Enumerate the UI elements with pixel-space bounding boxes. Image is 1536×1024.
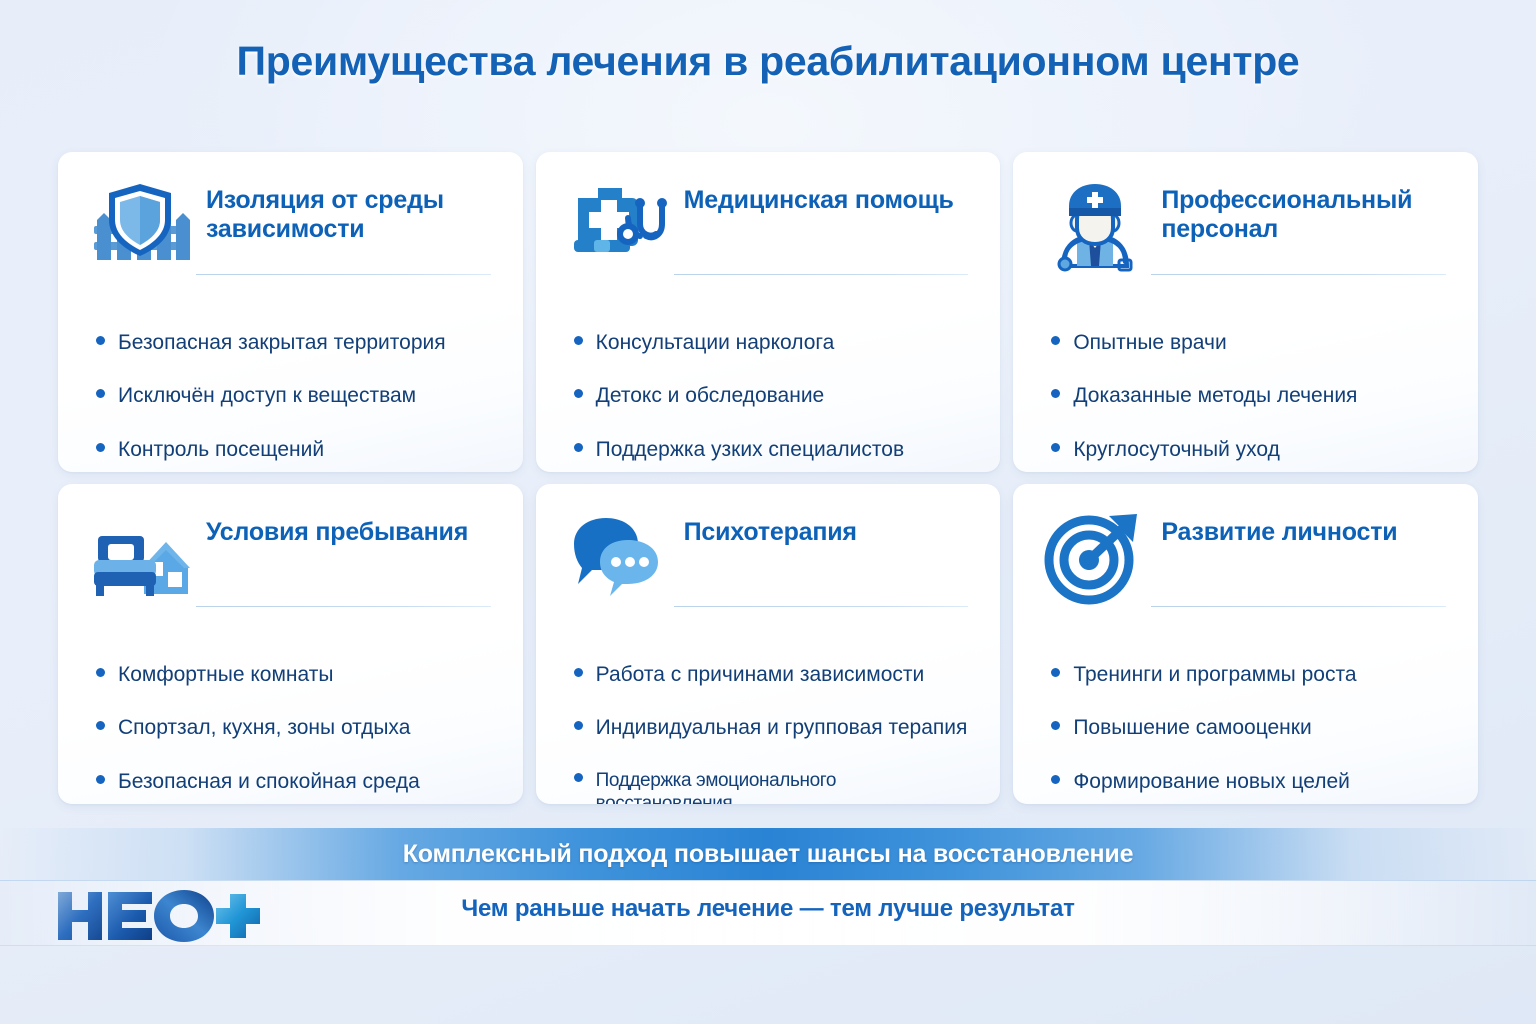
card-header: Медицинская помощь: [566, 178, 971, 274]
bullet-dot-icon: [574, 773, 583, 782]
bullet-dot-icon: [1051, 389, 1060, 398]
card-title: Развитие личности: [1161, 510, 1397, 547]
card-divider: [196, 274, 491, 275]
bullet-dot-icon: [574, 389, 583, 398]
benefits-grid: Изоляция от среды зависимости Безопасная…: [58, 152, 1478, 804]
summary-banner-text: Комплексный подход повышает шансы на вос…: [403, 840, 1134, 869]
list-item-label: Тренинги и программы роста: [1073, 662, 1356, 688]
page-title: Преимущества лечения в реабилитационном …: [0, 38, 1536, 85]
list-item: Безопасная закрытая территория: [96, 330, 493, 356]
card-bullet-list: Консультации нарколога Детокс и обследов…: [566, 330, 971, 463]
doctor-icon: [1043, 178, 1147, 274]
target-arrow-icon: [1043, 510, 1147, 606]
card-divider: [1151, 274, 1446, 275]
benefit-card-accommodation: Условия пребывания Комфортные комнаты Сп…: [58, 484, 523, 804]
benefit-card-isolation: Изоляция от среды зависимости Безопасная…: [58, 152, 523, 472]
list-item: Консультации нарколога: [574, 330, 971, 356]
list-item: Круглосуточный уход: [1051, 437, 1448, 463]
list-item-label: Повышение самооценки: [1073, 715, 1311, 741]
card-title: Изоляция от среды зависимости: [206, 178, 493, 245]
list-item: Индивидуальная и групповая терапия: [574, 715, 971, 741]
bullet-dot-icon: [574, 668, 583, 677]
list-item: Формирование новых целей: [1051, 769, 1448, 795]
list-item-label: Круглосуточный уход: [1073, 437, 1280, 463]
card-title: Медицинская помощь: [684, 178, 954, 215]
list-item-label: Безопасная закрытая территория: [118, 330, 446, 356]
list-item: Исключён доступ к веществам: [96, 383, 493, 409]
bullet-dot-icon: [96, 443, 105, 452]
list-item: Поддержка эмоционального восстановления: [574, 769, 971, 805]
card-bullet-list: Безопасная закрытая территория Исключён …: [88, 330, 493, 463]
bullet-dot-icon: [96, 721, 105, 730]
card-title: Профессиональный персонал: [1161, 178, 1448, 245]
bed-house-icon: [88, 510, 192, 606]
list-item-label: Исключён доступ к веществам: [118, 383, 416, 409]
card-header: Профессиональный персонал: [1043, 178, 1448, 274]
summary-banner: Комплексный подход повышает шансы на вос…: [0, 828, 1536, 880]
benefit-card-psychotherapy: Психотерапия Работа с причинами зависимо…: [536, 484, 1001, 804]
page-header: Преимущества лечения в реабилитационном …: [0, 0, 1536, 85]
card-divider: [674, 274, 969, 275]
list-item-label: Поддержка узких специалистов: [596, 437, 904, 463]
card-title: Условия пребывания: [206, 510, 468, 547]
list-item: Тренинги и программы роста: [1051, 662, 1448, 688]
list-item-label: Спортзал, кухня, зоны отдыха: [118, 715, 410, 741]
list-item-label: Контроль посещений: [118, 437, 324, 463]
list-item: Поддержка узких специалистов: [574, 437, 971, 463]
bullet-dot-icon: [574, 336, 583, 345]
card-header: Условия пребывания: [88, 510, 493, 606]
card-divider: [1151, 606, 1446, 607]
list-item-label: Опытные врачи: [1073, 330, 1226, 356]
list-item-label: Комфортные комнаты: [118, 662, 333, 688]
list-item-label: Детокс и обследование: [596, 383, 825, 409]
list-item-label: Доказанные методы лечения: [1073, 383, 1357, 409]
list-item: Безопасная и спокойная среда: [96, 769, 493, 795]
list-item-label: Консультации нарколога: [596, 330, 835, 356]
footer-tagline: Чем раньше начать лечение — тем лучше ре…: [0, 895, 1536, 923]
bullet-dot-icon: [574, 443, 583, 452]
bullet-dot-icon: [1051, 668, 1060, 677]
card-header: Изоляция от среды зависимости: [88, 178, 493, 274]
bullet-dot-icon: [1051, 775, 1060, 784]
bullet-dot-icon: [96, 389, 105, 398]
bullet-dot-icon: [96, 775, 105, 784]
list-item-label: Работа с причинами зависимости: [596, 662, 925, 688]
list-item-label: Безопасная и спокойная среда: [118, 769, 420, 795]
medical-bag-stethoscope-icon: [566, 178, 670, 274]
bullet-dot-icon: [96, 336, 105, 345]
list-item: Повышение самооценки: [1051, 715, 1448, 741]
bullet-dot-icon: [1051, 443, 1060, 452]
list-item: Доказанные методы лечения: [1051, 383, 1448, 409]
list-item: Опытные врачи: [1051, 330, 1448, 356]
card-header: Развитие личности: [1043, 510, 1448, 606]
card-header: Психотерапия: [566, 510, 971, 606]
benefit-card-personal-growth: Развитие личности Тренинги и программы р…: [1013, 484, 1478, 804]
card-bullet-list: Тренинги и программы роста Повышение сам…: [1043, 662, 1448, 795]
list-item-label: Формирование новых целей: [1073, 769, 1350, 795]
list-item: Комфортные комнаты: [96, 662, 493, 688]
speech-bubbles-icon: [566, 510, 670, 606]
bullet-dot-icon: [1051, 721, 1060, 730]
bullet-dot-icon: [574, 721, 583, 730]
list-item: Работа с причинами зависимости: [574, 662, 971, 688]
card-divider: [674, 606, 969, 607]
bullet-dot-icon: [1051, 336, 1060, 345]
benefit-card-medical-help: Медицинская помощь Консультации нарколог…: [536, 152, 1001, 472]
bullet-dot-icon: [96, 668, 105, 677]
shield-fence-icon: [88, 178, 192, 274]
list-item: Спортзал, кухня, зоны отдыха: [96, 715, 493, 741]
card-bullet-list: Опытные врачи Доказанные методы лечения …: [1043, 330, 1448, 463]
card-title: Психотерапия: [684, 510, 857, 547]
card-bullet-list: Комфортные комнаты Спортзал, кухня, зоны…: [88, 662, 493, 795]
list-item: Детокс и обследование: [574, 383, 971, 409]
list-item: Контроль посещений: [96, 437, 493, 463]
card-divider: [196, 606, 491, 607]
card-bullet-list: Работа с причинами зависимости Индивидуа…: [566, 662, 971, 804]
list-item-label: Индивидуальная и групповая терапия: [596, 715, 968, 741]
benefit-card-staff: Профессиональный персонал Опытные врачи …: [1013, 152, 1478, 472]
list-item-label: Поддержка эмоционального восстановления: [596, 769, 971, 805]
